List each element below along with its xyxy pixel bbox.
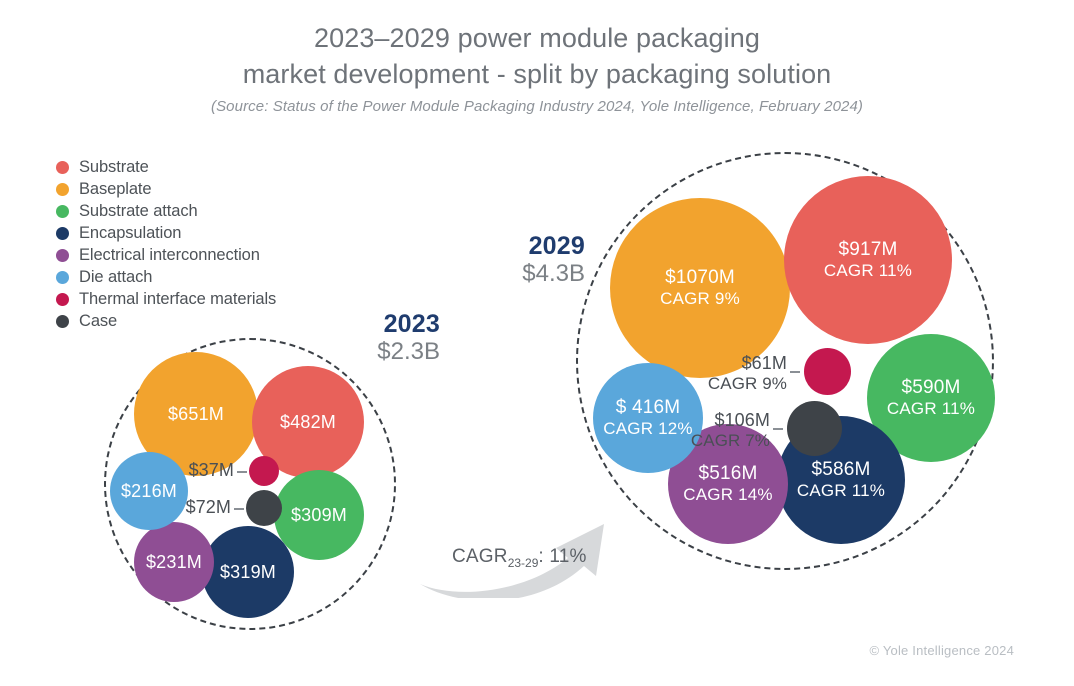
legend-dot-icon	[56, 183, 69, 196]
bubble-2029-substrate[interactable]: $917M CAGR 11%	[784, 176, 952, 344]
legend-item-substrate[interactable]: Substrate	[56, 156, 386, 178]
bubble-value: $37M	[144, 460, 234, 481]
bubble-value: $309M	[291, 504, 347, 526]
legend-dot-icon	[56, 161, 69, 174]
bubble-value: $482M	[280, 411, 336, 433]
bubble-cagr: CAGR 11%	[797, 481, 885, 501]
title-line-1: 2023–2029 power module packaging	[0, 20, 1074, 56]
bubble-2023-encapsulation[interactable]: $319M	[202, 526, 294, 618]
bubble-2029-baseplate[interactable]: $1070M CAGR 9%	[610, 198, 790, 378]
bubble-label-2023-thermal: $37M	[144, 460, 234, 481]
title-line-2: market development - split by packaging …	[0, 56, 1074, 92]
legend-item-die-attach[interactable]: Die attach	[56, 266, 386, 288]
subtitle-source: (Source: Status of the Power Module Pack…	[0, 98, 1074, 115]
bubble-cagr: CAGR 7%	[652, 431, 770, 451]
arrow-cagr-label: CAGR23-29: 11%	[452, 546, 587, 570]
legend-item-label: Substrate	[79, 158, 149, 177]
legend-item-label: Baseplate	[79, 180, 152, 199]
legend-dot-icon	[56, 271, 69, 284]
bubble-cluster-2023: $651M $482M $309M $319M $231M $216M $37M…	[104, 338, 396, 630]
page-title: 2023–2029 power module packaging market …	[0, 20, 1074, 115]
legend: Substrate Baseplate Substrate attach Enc…	[56, 156, 386, 332]
bubble-value: $516M	[698, 463, 757, 485]
legend-item-encapsulation[interactable]: Encapsulation	[56, 222, 386, 244]
arrow-cagr-subscript: 23-29	[508, 556, 539, 570]
legend-item-label: Electrical interconnection	[79, 246, 260, 265]
arrow-cagr-suffix: : 11%	[538, 546, 586, 567]
bubble-cagr: CAGR 9%	[672, 374, 787, 394]
bubble-cagr: CAGR 11%	[887, 399, 975, 419]
leader-line-case-2029	[773, 428, 783, 430]
legend-dot-icon	[56, 315, 69, 328]
year-total-2029: $4.3B	[455, 260, 585, 288]
legend-item-label: Die attach	[79, 268, 152, 287]
bubble-2023-substrate-attach[interactable]: $309M	[274, 470, 364, 560]
bubble-value: $231M	[146, 551, 202, 573]
legend-item-baseplate[interactable]: Baseplate	[56, 178, 386, 200]
bubble-value: $651M	[168, 403, 224, 425]
leader-line-thermal-2029	[790, 371, 800, 373]
arrow-cagr-prefix: CAGR	[452, 546, 508, 567]
bubble-value: $1070M	[665, 267, 735, 289]
leader-line-case-2023	[234, 508, 244, 510]
year-label-2023: 2023	[300, 310, 440, 338]
legend-item-label: Case	[79, 312, 117, 331]
bubble-2023-thermal-interface-materials[interactable]	[249, 456, 279, 486]
bubble-value: $917M	[838, 239, 897, 261]
legend-dot-icon	[56, 293, 69, 306]
bubble-2023-case[interactable]	[246, 490, 282, 526]
legend-item-label: Substrate attach	[79, 202, 198, 221]
bubble-value: $106M	[652, 410, 770, 431]
legend-dot-icon	[56, 205, 69, 218]
legend-item-substrate-attach[interactable]: Substrate attach	[56, 200, 386, 222]
bubble-label-2023-case: $72M	[141, 497, 231, 518]
bubble-2029-case[interactable]	[787, 401, 842, 456]
legend-item-thermal-interface-materials[interactable]: Thermal interface materials	[56, 288, 386, 310]
legend-dot-icon	[56, 249, 69, 262]
bubble-cagr: CAGR 14%	[683, 485, 772, 505]
leader-line-thermal-2023	[237, 471, 247, 473]
bubble-2029-thermal-interface-materials[interactable]	[804, 348, 851, 395]
year-callout-2029: 2029 $4.3B	[455, 232, 585, 288]
legend-item-label: Thermal interface materials	[79, 290, 276, 309]
footer-credit: © Yole Intelligence 2024	[870, 643, 1015, 658]
bubble-value: $590M	[901, 377, 960, 399]
bubble-value: $72M	[141, 497, 231, 518]
legend-dot-icon	[56, 227, 69, 240]
bubble-label-2029-case: $106M CAGR 7%	[652, 410, 770, 451]
bubble-cagr: CAGR 9%	[660, 289, 740, 309]
bubble-label-2029-thermal: $61M CAGR 9%	[672, 353, 787, 394]
legend-item-electrical-interconnection[interactable]: Electrical interconnection	[56, 244, 386, 266]
bubble-cluster-2029: $1070M CAGR 9% $917M CAGR 11% $590M CAGR…	[576, 152, 994, 570]
bubble-value: $61M	[672, 353, 787, 374]
legend-item-label: Encapsulation	[79, 224, 181, 243]
bubble-value: $586M	[811, 459, 870, 481]
year-label-2029: 2029	[455, 232, 585, 260]
bubble-cagr: CAGR 11%	[824, 261, 912, 281]
bubble-value: $319M	[220, 561, 276, 583]
bubble-2023-electrical-interconnection[interactable]: $231M	[134, 522, 214, 602]
